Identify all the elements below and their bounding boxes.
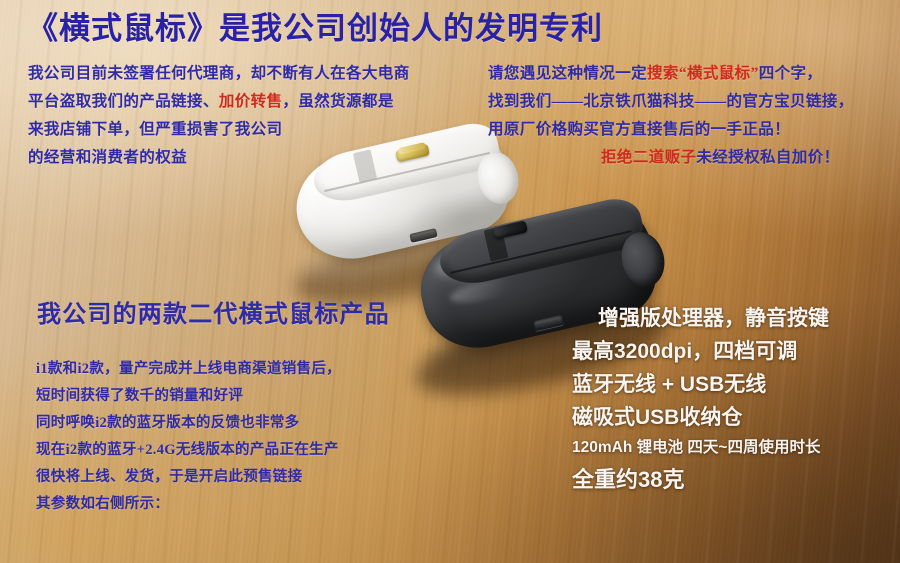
notice-left-block: 我公司目前未签署任何代理商，却不断有人在各大电商平台盗取我们的产品链接、加价转售… [28,66,410,178]
body-text: 请您遇见这种情况一定 [488,65,647,82]
body-text: 四个字， [759,65,823,82]
body-text: 的经营和消费者的权益 [28,149,187,166]
description-line: 现在i2款的蓝牙+2.4G无线版本的产品正在生产 [36,443,341,458]
body-text: 我公司目前未签署任何代理商，却不断有人在各大电商 [28,65,410,82]
notice-line: 来我店铺下单，但严重损害了我公司 [28,122,410,138]
spec-line: 蓝牙无线 + USB无线 [572,374,884,395]
highlight-text: 加价转售 [219,93,283,110]
notice-line: 平台盗取我们的产品链接、加价转售，虽然货源都是 [28,94,410,110]
body-text: 来我店铺下单，但严重损害了我公司 [28,121,282,138]
body-text: 未经授权私自加价！ [696,149,839,166]
description-line: 其参数如右侧所示： [36,497,341,512]
page-title: 《横式鼠标》是我公司创始人的发明专利 [27,13,603,44]
product-description-block: i1款和i2款，量产完成并上线电商渠道销售后，短时间获得了数千的销量和好评同时呼… [36,362,341,524]
spec-line: 增强版处理器，静音按键 [572,308,884,329]
spec-line: 120mAh 锂电池 四天~四周使用时长 [572,440,884,456]
poster-canvas: 《横式鼠标》是我公司创始人的发明专利 我公司目前未签署任何代理商，却不断有人在各… [0,0,900,563]
body-text: 平台盗取我们的产品链接、 [28,93,219,110]
description-line: i1款和i2款，量产完成并上线电商渠道销售后， [36,362,341,377]
spec-line: 最高3200dpi，四档可调 [572,341,884,362]
notice-line: 请您遇见这种情况一定搜索“横式鼠标”四个字， [488,66,854,82]
body-text: 找到我们——北京铁爪猫科技——的官方宝贝链接， [488,93,854,110]
section-subtitle: 我公司的两款二代横式鼠标产品 [37,303,390,327]
description-line: 同时呼唤i2款的蓝牙版本的反馈也非常多 [36,416,341,431]
notice-line: 的经营和消费者的权益 [28,150,410,166]
notice-line: 我公司目前未签署任何代理商，却不断有人在各大电商 [28,66,410,82]
body-text: 用原厂价格购买官方直接售后的一手正品！ [488,121,790,138]
notice-line: 找到我们——北京铁爪猫科技——的官方宝贝链接， [488,94,854,110]
spec-line: 全重约38克 [572,469,884,491]
spec-line: 磁吸式USB收纳仓 [572,407,884,428]
notice-line: 拒绝二道贩子未经授权私自加价！ [488,150,854,166]
spec-list: 增强版处理器，静音按键最高3200dpi，四档可调蓝牙无线 + USB无线磁吸式… [572,308,884,491]
description-line: 短时间获得了数千的销量和好评 [36,389,341,404]
description-line: 很快将上线、发货，于是开启此预售链接 [36,470,341,485]
notice-line: 用原厂价格购买官方直接售后的一手正品！ [488,122,854,138]
highlight-text: 搜索“横式鼠标” [647,65,759,82]
highlight-text: 拒绝二道贩子 [601,149,696,166]
notice-right-block: 请您遇见这种情况一定搜索“横式鼠标”四个字，找到我们——北京铁爪猫科技——的官方… [488,66,854,178]
body-text: ，虽然货源都是 [282,93,393,110]
